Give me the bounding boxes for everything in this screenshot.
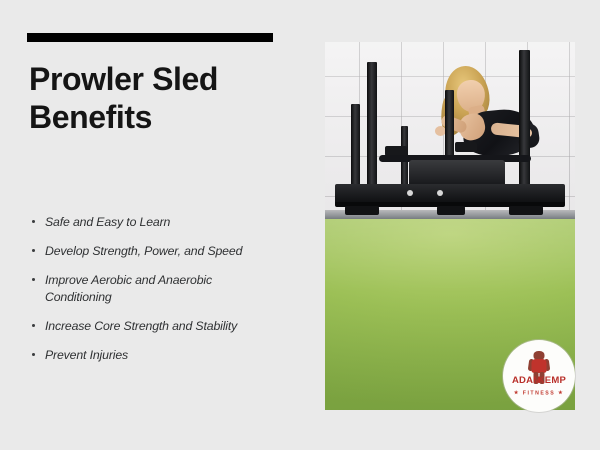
sled-plate-right	[455, 142, 477, 152]
bullet-icon	[32, 324, 35, 327]
benefits-list: Safe and Easy to Learn Develop Strength,…	[30, 214, 278, 364]
sled-foot-middle	[437, 206, 465, 215]
prowler-sled	[333, 42, 567, 232]
title-accent-rule	[27, 33, 273, 42]
list-item: Prevent Injuries	[30, 347, 278, 364]
list-item: Improve Aerobic and Anaerobic Conditioni…	[30, 272, 278, 306]
logo-word-right: KEMP	[538, 376, 566, 386]
logo-tagline-row: ★ FITNESS ★	[503, 390, 575, 396]
sled-base-frame	[335, 184, 565, 204]
sled-post-tall-right	[519, 50, 530, 188]
list-item-label: Improve Aerobic and Anaerobic Conditioni…	[45, 273, 212, 304]
list-item-label: Safe and Easy to Learn	[45, 215, 170, 229]
bullet-icon	[32, 220, 35, 223]
sled-foot-right	[509, 206, 543, 215]
list-item: Safe and Easy to Learn	[30, 214, 278, 231]
sled-post-mid-left	[351, 104, 360, 188]
mascot-body	[532, 359, 547, 373]
list-item-label: Prevent Injuries	[45, 348, 128, 362]
left-content-column: Prowler Sled Benefits Safe and Easy to L…	[0, 0, 310, 450]
brand-logo-badge: ADAM KEMP ★ FITNESS ★	[503, 340, 575, 412]
list-item-label: Develop Strength, Power, and Speed	[45, 244, 242, 258]
bullet-icon	[32, 353, 35, 356]
list-item-label: Increase Core Strength and Stability	[45, 319, 237, 333]
list-item: Develop Strength, Power, and Speed	[30, 243, 278, 260]
sled-bolt	[437, 190, 443, 196]
star-icon-right: ★	[558, 390, 564, 396]
bullet-icon	[32, 249, 35, 252]
bullet-icon	[32, 278, 35, 281]
sled-bolt	[407, 190, 413, 196]
list-item: Increase Core Strength and Stability	[30, 318, 278, 335]
slide-canvas: Prowler Sled Benefits Safe and Easy to L…	[0, 0, 600, 450]
page-title: Prowler Sled Benefits	[29, 60, 299, 136]
sled-post-tall-left	[367, 62, 377, 188]
logo-tagline-label: FITNESS	[523, 390, 555, 396]
star-icon-left: ★	[514, 390, 520, 396]
sled-foot-left	[345, 206, 379, 215]
